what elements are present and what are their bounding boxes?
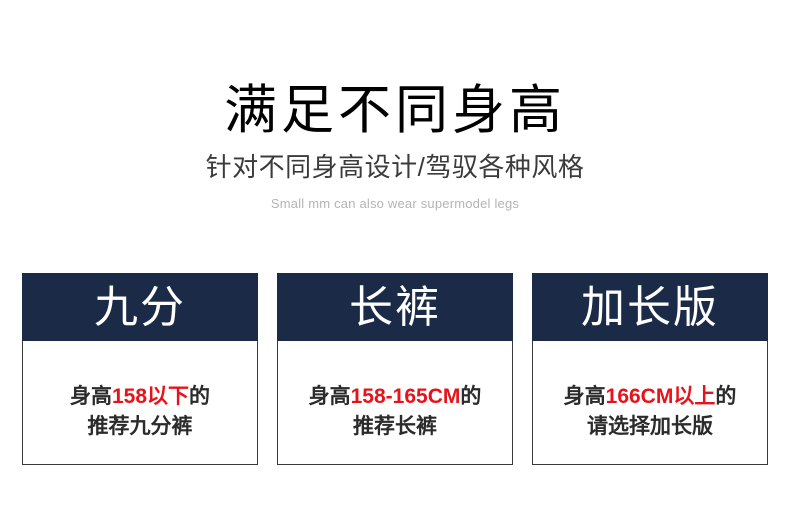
promo-banner: 满足不同身高 针对不同身高设计/驾驭各种风格 Small mm can also…	[0, 0, 790, 524]
card-title: 九分	[94, 284, 186, 332]
card-line-suffix: 的	[460, 385, 481, 408]
card-height-range-line: 身高158-165CM的	[309, 382, 482, 412]
card-height-highlight: 166CM以上	[606, 385, 716, 408]
header-block: 满足不同身高 针对不同身高设计/驾驭各种风格 Small mm can also…	[0, 0, 790, 212]
size-guide-card: 九分 身高158以下的 推荐九分裤	[22, 273, 258, 465]
card-body: 身高166CM以上的 请选择加长版	[532, 341, 768, 465]
page-subtitle: 针对不同身高设计/驾驭各种风格	[0, 142, 790, 183]
card-height-highlight: 158-165CM	[351, 385, 461, 408]
card-line-prefix: 身高	[70, 385, 112, 408]
size-guide-card-list: 九分 身高158以下的 推荐九分裤 长裤 身高158-165CM的 推荐长裤	[22, 273, 768, 465]
page-subtitle-english: Small mm can also wear supermodel legs	[0, 183, 790, 212]
card-title: 长裤	[349, 284, 441, 332]
card-recommendation-line: 推荐长裤	[353, 412, 437, 442]
card-height-highlight: 158以下	[112, 385, 189, 408]
card-title: 加长版	[581, 284, 719, 332]
card-body: 身高158-165CM的 推荐长裤	[277, 341, 513, 465]
card-line-suffix: 的	[715, 385, 736, 408]
card-height-range-line: 身高158以下的	[70, 382, 210, 412]
card-line-suffix: 的	[189, 385, 210, 408]
card-header-banner: 九分	[22, 273, 258, 341]
card-height-range-line: 身高166CM以上的	[564, 382, 737, 412]
card-line-prefix: 身高	[564, 385, 606, 408]
card-header-banner: 长裤	[277, 273, 513, 341]
card-recommendation-line: 请选择加长版	[587, 412, 713, 442]
card-body: 身高158以下的 推荐九分裤	[22, 341, 258, 465]
size-guide-card: 加长版 身高166CM以上的 请选择加长版	[532, 273, 768, 465]
card-recommendation-line: 推荐九分裤	[88, 412, 193, 442]
card-line-prefix: 身高	[309, 385, 351, 408]
page-title: 满足不同身高	[0, 0, 790, 142]
card-header-banner: 加长版	[532, 273, 768, 341]
size-guide-card: 长裤 身高158-165CM的 推荐长裤	[277, 273, 513, 465]
